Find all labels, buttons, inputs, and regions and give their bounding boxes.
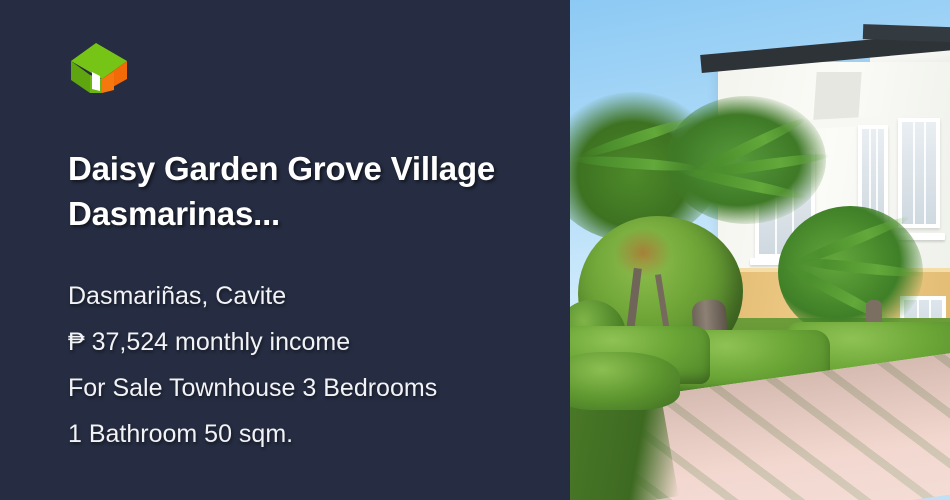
house-logo-icon[interactable] — [68, 34, 130, 96]
property-photo — [570, 0, 950, 500]
window-upper-right — [898, 118, 940, 228]
roof-dormer — [813, 72, 861, 120]
shrub-red-foliage — [614, 228, 672, 278]
hedge-foreground — [570, 352, 680, 410]
listing-location: Dasmariñas, Cavite — [68, 273, 548, 319]
property-listing-card: Daisy Garden Grove Village Dasmarinas...… — [0, 0, 950, 500]
page-title: Daisy Garden Grove Village Dasmarinas... — [68, 146, 538, 236]
listing-type-bedrooms: For Sale Townhouse 3 Bedrooms — [68, 365, 548, 411]
listing-details-list: Dasmariñas, Cavite ₱ 37,524 monthly inco… — [68, 273, 548, 457]
listing-bathroom-area: 1 Bathroom 50 sqm. — [68, 411, 548, 457]
info-panel: Daisy Garden Grove Village Dasmarinas...… — [0, 0, 570, 500]
listing-price: ₱ 37,524 monthly income — [68, 319, 548, 365]
